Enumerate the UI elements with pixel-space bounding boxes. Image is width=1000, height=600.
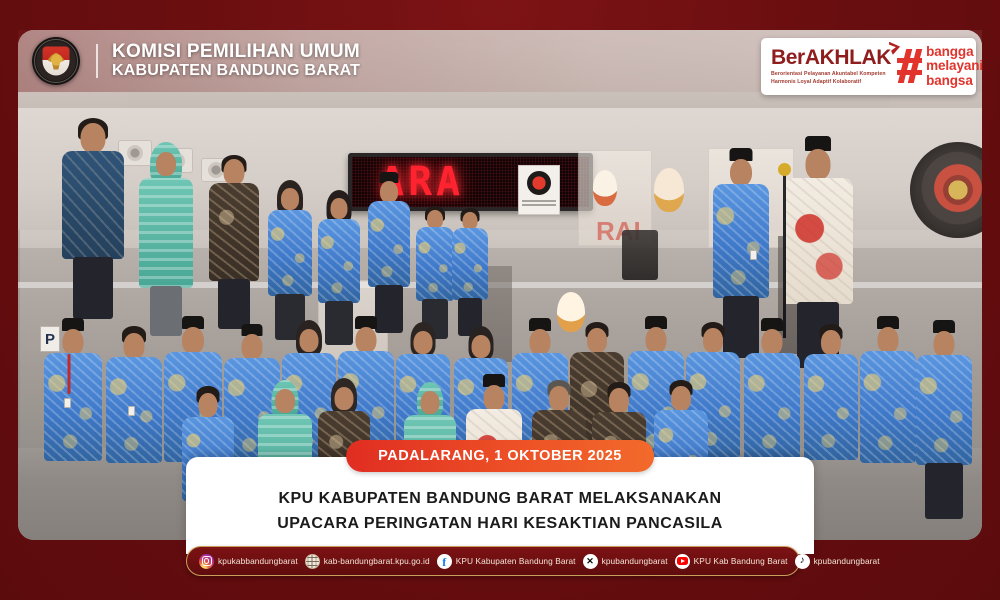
person-standing	[58, 118, 128, 318]
panel-caption	[522, 200, 556, 209]
x-icon	[583, 554, 598, 569]
berakhlak-tagline-2: Harmonis Loyal Adaptif Kolaboratif	[771, 79, 891, 87]
instagram-icon	[199, 554, 214, 569]
person-standing	[266, 180, 314, 322]
caption-text-block: KPU KABUPATEN BANDUNG BARAT MELAKSANAKAN…	[186, 487, 814, 537]
social-handle-instagram: kpukabbandungbarat	[218, 556, 298, 566]
berakhlak-left: BerAKHLAK Berorientasi Pelayanan Akuntab…	[771, 47, 891, 87]
social-item-youtube[interactable]: KPU Kab Bandung Barat	[675, 554, 788, 569]
mascot-figure	[654, 168, 684, 212]
social-media-bar: kpukabbandungbarat kab-bandungbarat.kpu.…	[186, 546, 800, 576]
microphone-stand	[783, 170, 786, 338]
slogan-line-2: melayani	[926, 59, 983, 73]
person-standing	[858, 316, 918, 490]
social-item-instagram[interactable]: kpukabbandungbarat	[199, 554, 298, 569]
person-standing	[450, 208, 490, 326]
poster-canvas: ARA RAI P	[0, 0, 1000, 600]
website-icon	[305, 554, 320, 569]
social-handle-tiktok: kpubandungbarat	[814, 556, 880, 566]
person-standing	[42, 318, 104, 486]
person-standing	[316, 190, 362, 326]
person-standing	[914, 320, 974, 492]
youtube-icon	[675, 554, 690, 569]
person-standing	[104, 326, 164, 488]
caption-line-2: UPACARA PERINGATAN HARI KESAKTIAN PANCAS…	[186, 512, 814, 537]
loudspeaker	[622, 230, 658, 280]
caption-line-1: KPU KABUPATEN BANDUNG BARAT MELAKSANAKAN	[186, 487, 814, 512]
social-handle-x: kpubandungbarat	[602, 556, 668, 566]
person-standing	[366, 172, 412, 322]
person-standing	[206, 155, 262, 315]
tiktok-icon	[795, 554, 810, 569]
caption-card: PADALARANG, 1 OKTOBER 2025 KPU KABUPATEN…	[186, 457, 814, 554]
social-handle-facebook: KPU Kabupaten Bandung Barat	[456, 556, 576, 566]
berakhlak-wordmark: BerAKHLAK	[771, 47, 891, 68]
social-handle-website: kab-bandungbarat.kpu.go.id	[324, 556, 430, 566]
microphone-icon	[778, 163, 791, 176]
social-handle-youtube: KPU Kab Bandung Barat	[694, 556, 788, 566]
bangga-melayani-bangsa-logo: bangga melayani bangsa	[897, 45, 983, 88]
berakhlak-word-text: BerAKHLAK	[771, 46, 891, 69]
berakhlak-tagline-1: Berorientasi Pelayanan Akuntabel Kompete…	[771, 71, 891, 79]
slogan-lines: bangga melayani bangsa	[926, 45, 983, 88]
social-item-facebook[interactable]: KPU Kabupaten Bandung Barat	[437, 554, 576, 569]
social-item-x[interactable]: kpubandungbarat	[583, 554, 668, 569]
date-badge: PADALARANG, 1 OKTOBER 2025	[346, 440, 654, 472]
person-standing	[136, 142, 196, 320]
social-item-website[interactable]: kab-bandungbarat.kpu.go.id	[305, 554, 430, 569]
hashtag-icon	[897, 49, 922, 83]
facebook-icon	[437, 554, 452, 569]
social-item-tiktok[interactable]: kpubandungbarat	[795, 554, 880, 569]
kpu-emblem-icon	[527, 171, 551, 195]
wall-logo-panel	[518, 165, 560, 215]
berakhlak-badge: BerAKHLAK Berorientasi Pelayanan Akuntab…	[761, 38, 976, 95]
slogan-line-1: bangga	[926, 45, 983, 59]
mascot-figure	[593, 170, 617, 206]
slogan-line-3: bangsa	[926, 74, 983, 88]
